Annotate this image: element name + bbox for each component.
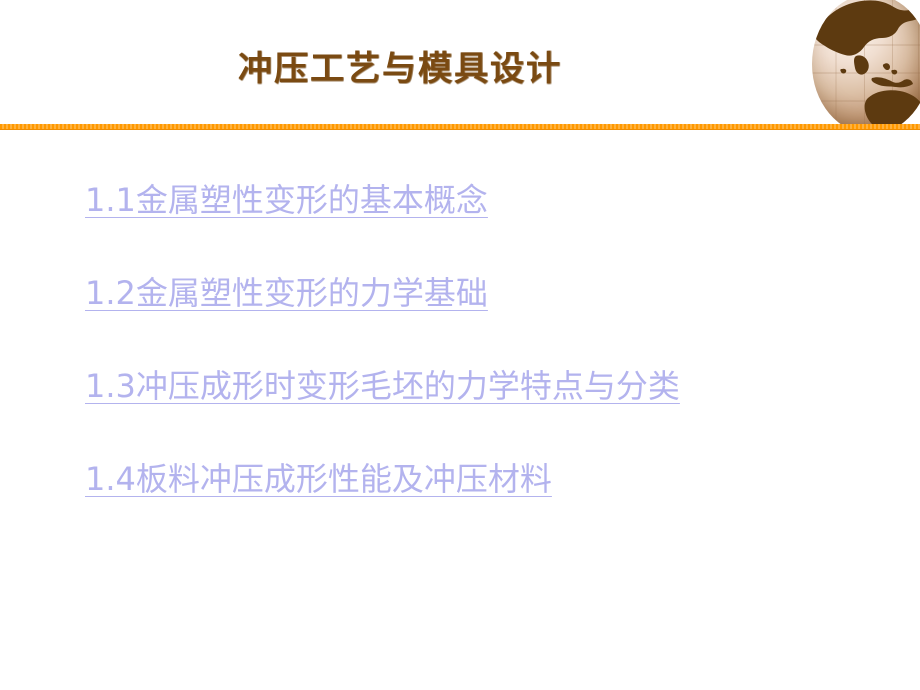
toc-link-1-3[interactable]: 1.3冲压成形时变形毛坯的力学特点与分类: [85, 364, 680, 408]
toc-link-1-2[interactable]: 1.2金属塑性变形的力学基础: [85, 271, 488, 315]
presentation-slide: 冲压工艺与模具设计: [0, 0, 920, 690]
table-of-contents: 1.1金属塑性变形的基本概念 1.2金属塑性变形的力学基础 1.3冲压成形时变形…: [85, 178, 885, 501]
slide-title: 冲压工艺与模具设计: [0, 52, 800, 86]
toc-link-1-4[interactable]: 1.4板料冲压成形性能及冲压材料: [85, 457, 552, 501]
orange-divider: [0, 124, 920, 130]
globe-decoration-container: [798, 0, 920, 126]
globe-icon: [812, 0, 920, 126]
globe-landmass-icon: [812, 0, 920, 126]
toc-link-1-1[interactable]: 1.1金属塑性变形的基本概念: [85, 178, 488, 222]
slide-header-banner: 冲压工艺与模具设计: [0, 0, 920, 126]
